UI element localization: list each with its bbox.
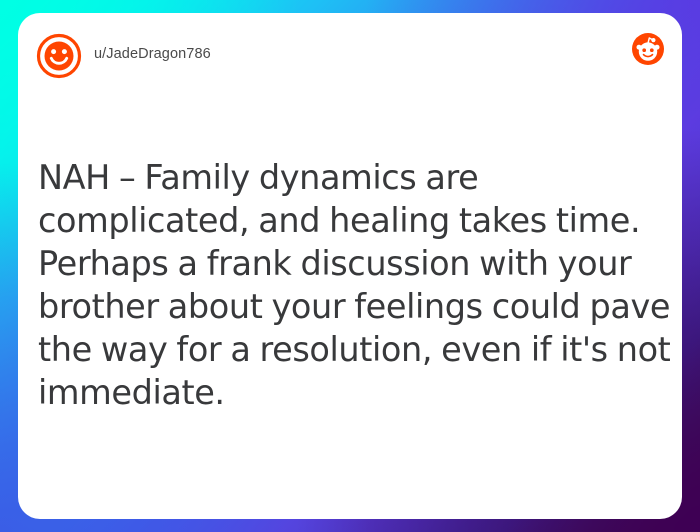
avatar[interactable] xyxy=(36,33,82,79)
smiley-face-avatar-icon xyxy=(39,36,80,77)
reddit-snoo-icon xyxy=(632,33,664,65)
screenshot-stage: u/JadeDragon786 N xyxy=(0,0,700,532)
comment-body-text: NAH – Family dynamics are complicated, a… xyxy=(38,156,676,414)
username-label: u/JadeDragon786 xyxy=(94,46,211,62)
reddit-logo[interactable] xyxy=(632,33,664,65)
card-header: u/JadeDragon786 xyxy=(18,13,682,105)
reddit-comment-card: u/JadeDragon786 N xyxy=(18,13,682,519)
